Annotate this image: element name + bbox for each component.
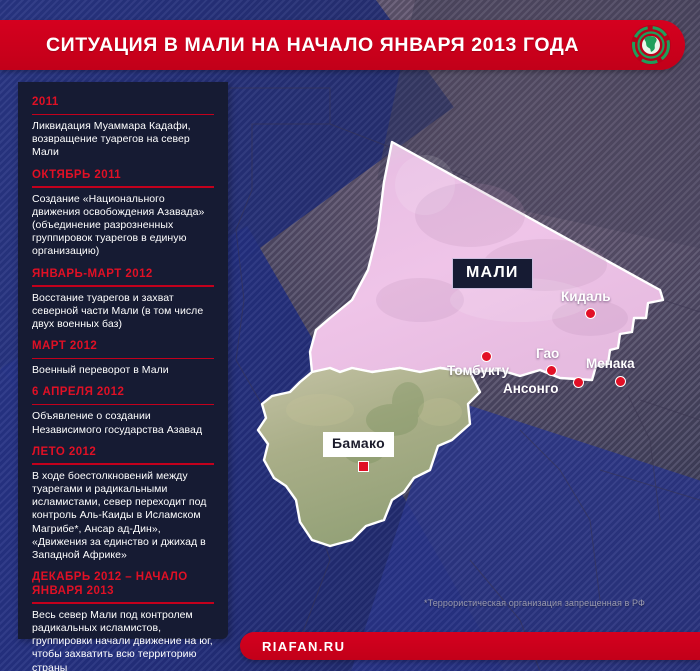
- infographic-root: СИТУАЦИЯ В МАЛИ НА НАЧАЛО ЯНВАРЯ 2013 ГО…: [0, 0, 700, 671]
- city-label-text: Менака: [586, 356, 635, 371]
- city-gao: Гао: [536, 346, 559, 361]
- timeline-entry: 6 АПРЕЛЯ 2012 Объявление о создании Неза…: [18, 386, 228, 436]
- city-dot: [585, 308, 596, 319]
- city-label-text: Гао: [536, 346, 559, 361]
- timeline-entry-rule: [32, 358, 214, 360]
- footer-bar: RIAFAN.RU: [240, 632, 700, 660]
- timeline-entry-text: Объявление о создании Независимого госуд…: [32, 410, 214, 436]
- city-kidal: Кидаль: [561, 289, 611, 304]
- city-label-text: Ансонго: [503, 381, 559, 396]
- timeline-entry-text: В ходе боестолкновений между туарегами и…: [32, 470, 214, 562]
- timeline-entry-rule: [32, 602, 214, 604]
- timeline-entry: 2011 Ликвидация Муаммара Кадафи, возвращ…: [18, 96, 228, 160]
- timeline-entry-text: Весь север Мали под контролем радикальны…: [32, 609, 214, 671]
- timeline-entry-rule: [32, 463, 214, 465]
- timeline-entry-date: ОКТЯБРЬ 2011: [32, 169, 214, 186]
- country-label-mali: МАЛИ: [452, 258, 533, 289]
- timeline-entry-rule: [32, 114, 214, 116]
- timeline-entry-rule: [32, 404, 214, 406]
- city-label-text: Кидаль: [561, 289, 611, 304]
- timeline-entry-text: Военный переворот в Мали: [32, 364, 214, 377]
- timeline-entry-text: Создание «Национального движения освобож…: [32, 193, 214, 259]
- city-dot: [615, 376, 626, 387]
- timeline-entry-text: Ликвидация Муаммара Кадафи, возвращение …: [32, 120, 214, 160]
- city-menaka: Менака: [586, 356, 635, 371]
- capital-label-bamako: Бамако: [323, 432, 394, 457]
- timeline-entry: ОКТЯБРЬ 2011 Создание «Национального дви…: [18, 169, 228, 259]
- city-timbuktu: Томбукту: [447, 363, 509, 378]
- timeline-entry-date: ДЕКАБРЬ 2012 – НАЧАЛО ЯНВАРЯ 2013: [32, 571, 214, 601]
- timeline-entry-date: 2011: [32, 96, 214, 113]
- city-dot: [481, 351, 492, 362]
- capital-label-text: Бамако: [332, 435, 385, 451]
- timeline-entry-date: ЛЕТО 2012: [32, 446, 214, 463]
- city-dot: [546, 365, 557, 376]
- capital-marker: [358, 461, 369, 472]
- timeline-entry: ЛЕТО 2012 В ходе боестолкновений между т…: [18, 446, 228, 562]
- africa-emblem-icon: [629, 23, 673, 67]
- footnote: *Террористическая организация запрещенна…: [424, 598, 645, 608]
- timeline-panel: 2011 Ликвидация Муаммара Кадафи, возвращ…: [18, 82, 228, 639]
- timeline-entry-date: МАРТ 2012: [32, 340, 214, 357]
- timeline-entry-rule: [32, 186, 214, 188]
- timeline-entry: ЯНВАРЬ-МАРТ 2012 Восстание туарегов и за…: [18, 268, 228, 332]
- site-name[interactable]: RIAFAN.RU: [262, 639, 345, 654]
- timeline-entry-rule: [32, 285, 214, 287]
- timeline-entry: МАРТ 2012 Военный переворот в Мали: [18, 340, 228, 377]
- timeline-entry: ДЕКАБРЬ 2012 – НАЧАЛО ЯНВАРЯ 2013 Весь с…: [18, 571, 228, 671]
- city-label-text: Томбукту: [447, 363, 509, 378]
- timeline-entry-text: Восстание туарегов и захват северной час…: [32, 292, 214, 332]
- country-label-text: МАЛИ: [466, 264, 519, 281]
- timeline-entry-date: ЯНВАРЬ-МАРТ 2012: [32, 268, 214, 285]
- map-region-south: [258, 368, 480, 546]
- city-ansongo: Ансонго: [503, 381, 559, 396]
- header-bar: СИТУАЦИЯ В МАЛИ НА НАЧАЛО ЯНВАРЯ 2013 ГО…: [0, 20, 685, 70]
- page-title: СИТУАЦИЯ В МАЛИ НА НАЧАЛО ЯНВАРЯ 2013 ГО…: [46, 34, 579, 57]
- timeline-entry-date: 6 АПРЕЛЯ 2012: [32, 386, 214, 403]
- city-dot: [573, 377, 584, 388]
